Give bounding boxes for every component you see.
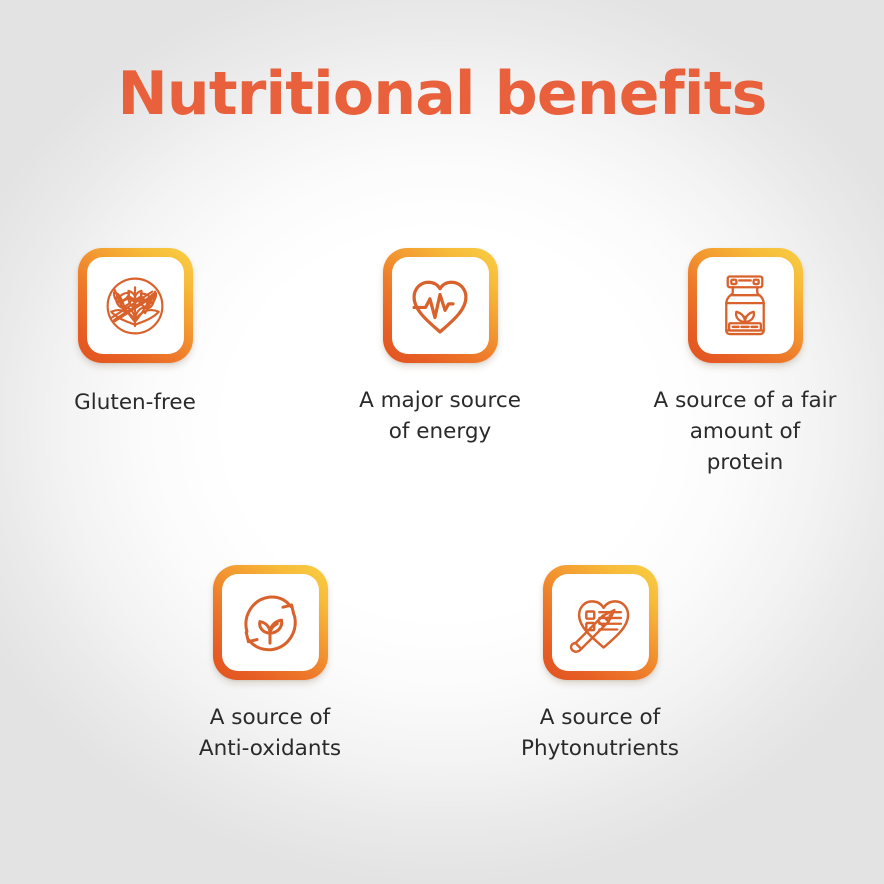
benefit-label-protein: A source of a fair amount of protein (654, 385, 837, 478)
recycle-leaf-icon (234, 587, 306, 659)
benefit-label-energy: A major source of energy (359, 385, 521, 447)
benefit-label-antioxidants: A source of Anti-oxidants (199, 702, 341, 764)
supplement-jar-icon (709, 270, 781, 342)
page-title: Nutritional benefits (0, 58, 884, 130)
icon-frame-phytonutrients (543, 565, 658, 680)
icon-inner-phytonutrients (552, 574, 649, 671)
benefit-item-phytonutrients: A source of Phytonutrients (470, 565, 730, 764)
icon-frame-energy (383, 248, 498, 363)
heart-checklist-pencil-icon (564, 587, 636, 659)
benefit-item-energy: A major source of energy (310, 248, 570, 447)
wheat-crossed-out-icon (99, 270, 171, 342)
benefit-item-gluten-free: Gluten-free (5, 248, 265, 418)
benefit-label-gluten-free: Gluten-free (74, 387, 196, 418)
heart-pulse-icon (404, 270, 476, 342)
benefit-item-protein: A source of a fair amount of protein (615, 248, 875, 478)
icon-inner-gluten-free (87, 257, 184, 354)
icon-inner-protein (697, 257, 794, 354)
icon-inner-antioxidants (222, 574, 319, 671)
benefit-label-phytonutrients: A source of Phytonutrients (521, 702, 679, 764)
benefit-item-antioxidants: A source of Anti-oxidants (140, 565, 400, 764)
infographic-canvas: Nutritional benefits (0, 0, 884, 884)
icon-frame-gluten-free (78, 248, 193, 363)
icon-frame-antioxidants (213, 565, 328, 680)
icon-frame-protein (688, 248, 803, 363)
icon-inner-energy (392, 257, 489, 354)
